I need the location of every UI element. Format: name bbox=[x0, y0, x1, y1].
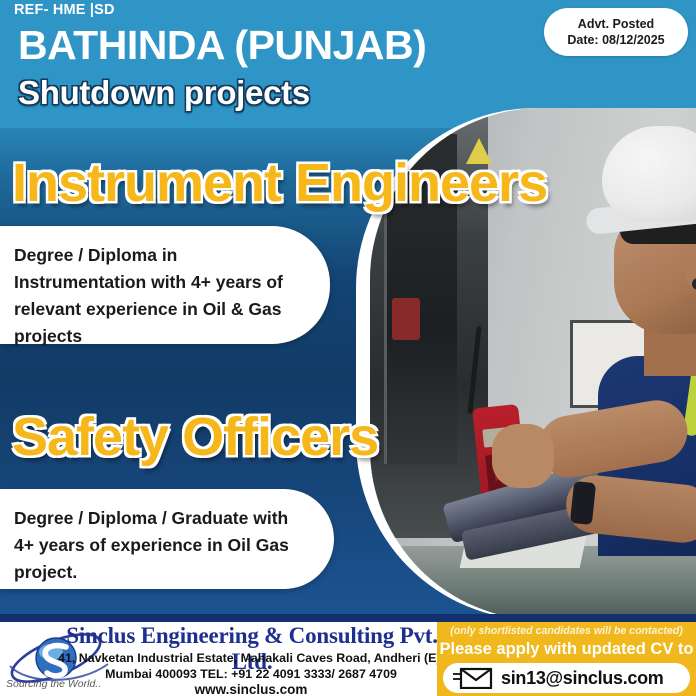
posted-label: Advt. Posted bbox=[578, 16, 654, 32]
photo-tablet bbox=[442, 453, 636, 544]
page-title: BATHINDA (PUNJAB) bbox=[18, 22, 426, 68]
photo-worker-arm-lower bbox=[563, 473, 696, 546]
photo-wall-frame bbox=[570, 320, 650, 408]
footer-divider bbox=[0, 614, 696, 622]
job-title-instrument-engineers: Instrument Engineers bbox=[12, 154, 547, 212]
photo-shirt-stripe bbox=[683, 357, 696, 436]
company-address: 41, Navketan Industrial Estate, Mahakali… bbox=[56, 650, 446, 682]
requirements-safety-officers: Degree / Diploma / Graduate with 4+ year… bbox=[0, 489, 334, 589]
photo-panel-breaker bbox=[392, 298, 420, 340]
photo-tablet-lower bbox=[461, 493, 647, 561]
company-website[interactable]: www.sinclus.com bbox=[56, 682, 446, 696]
posted-date-badge: Advt. Posted Date: 08/12/2025 bbox=[544, 8, 688, 56]
posted-date: Date: 08/12/2025 bbox=[567, 32, 664, 48]
requirements-instrument-engineers: Degree / Diploma in Instrumentation with… bbox=[0, 226, 330, 344]
photo-worker-arm-upper bbox=[534, 395, 692, 482]
apply-email-address: sin13@sinclus.com bbox=[501, 668, 664, 689]
photo-floor-paper bbox=[460, 508, 593, 568]
apply-email-pill[interactable]: sin13@sinclus.com bbox=[443, 663, 690, 693]
photo-worker-hair bbox=[620, 204, 696, 244]
envelope-icon bbox=[453, 667, 493, 689]
job-advertisement-poster: REF- HME |SD BATHINDA (PUNJAB) Shutdown … bbox=[0, 0, 696, 696]
photo-worker-hand bbox=[492, 424, 554, 488]
reference-code: REF- HME |SD bbox=[14, 2, 115, 18]
photo-worker-neck bbox=[644, 316, 696, 376]
photo-worker-watch bbox=[570, 481, 596, 525]
photo-worker-ear bbox=[686, 258, 696, 292]
job-title-safety-officers: Safety Officers bbox=[12, 408, 378, 466]
apply-instruction: Please apply with updated CV to bbox=[437, 640, 696, 659]
shortlist-disclaimer: (only shortlisted candidates will be con… bbox=[437, 625, 696, 637]
header-subtitle: Shutdown projects bbox=[18, 74, 310, 112]
photo-worker-shirt bbox=[598, 356, 696, 556]
photo-radio-antenna bbox=[467, 326, 481, 414]
photo-walkie-talkie bbox=[472, 404, 530, 524]
apply-panel: (only shortlisted candidates will be con… bbox=[437, 622, 696, 696]
photo-radio-keypad bbox=[485, 452, 520, 507]
photo-radio-screen bbox=[482, 427, 514, 448]
photo-helmet-brim bbox=[585, 195, 696, 235]
photo-worker-earring bbox=[692, 278, 696, 290]
photo-worker-face bbox=[614, 208, 696, 334]
photo-safety-helmet bbox=[602, 126, 696, 222]
